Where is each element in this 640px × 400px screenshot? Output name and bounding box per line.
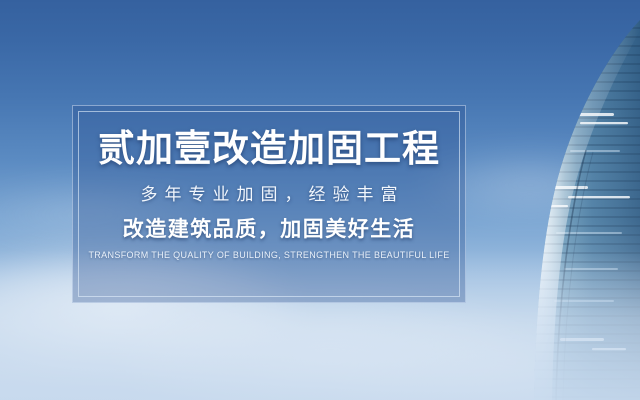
- hero-banner: 贰加壹改造加固工程 多年专业加固，经验丰富 改造建筑品质，加固美好生活 TRAN…: [0, 0, 640, 400]
- panel-content: 贰加壹改造加固工程 多年专业加固，经验丰富 改造建筑品质，加固美好生活 TRAN…: [73, 106, 465, 302]
- subtitle-text: 多年专业加固，经验丰富: [134, 186, 405, 203]
- page-title: 贰加壹改造加固工程: [98, 130, 440, 167]
- tagline-english: TRANSFORM THE QUALITY OF BUILDING, STREN…: [88, 251, 449, 260]
- headline-panel: 贰加壹改造加固工程 多年专业加固，经验丰富 改造建筑品质，加固美好生活 TRAN…: [72, 105, 466, 303]
- tagline-chinese: 改造建筑品质，加固美好生活: [123, 219, 416, 240]
